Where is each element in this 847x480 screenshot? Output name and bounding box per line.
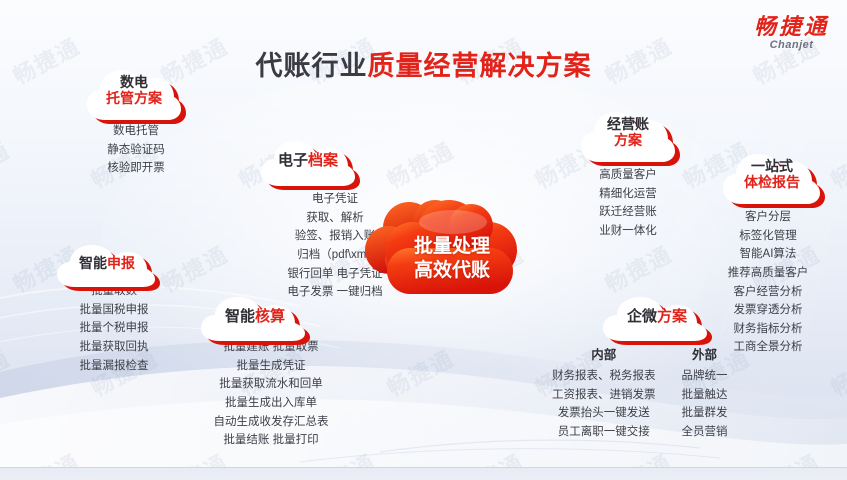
list-item: 跃迁经营账 bbox=[548, 203, 708, 222]
list-item: 客户分层 bbox=[692, 208, 844, 227]
cloud-badge-yizhanshi[interactable]: 一站式 体检报告 bbox=[718, 146, 826, 208]
cloud-badge-qiwei-fangan[interactable]: 企微 方案 bbox=[598, 292, 716, 346]
list-item: 批量国税申报 bbox=[44, 301, 184, 320]
chanjet-logo: 畅捷通 Chanjet bbox=[754, 16, 829, 51]
column-external: 外部 品牌统一 批量触达 批量群发 全员营销 bbox=[682, 344, 728, 442]
list-item: 智能AI算法 bbox=[692, 245, 844, 264]
column-items: 财务报表、税务报表 工资报表、进销发票 发票抬头一键发送 员工离职一键交接 bbox=[552, 367, 656, 442]
list-item: 批量生成出入库单 bbox=[166, 394, 376, 413]
page-title-prefix: 代账行业 bbox=[256, 51, 368, 81]
list-item: 精细化运营 bbox=[548, 185, 708, 204]
slide-canvas: 畅捷通畅捷通畅捷通畅捷通畅捷通畅捷通畅捷通畅捷通畅捷通畅捷通畅捷通畅捷通畅捷通畅… bbox=[0, 0, 847, 480]
list-item: 高质量客户 bbox=[548, 166, 708, 185]
list-item: 核验即开票 bbox=[56, 159, 216, 178]
list-item: 批量获取回执 bbox=[44, 338, 184, 357]
item-list-zhineng-shenbao: 批量取数 批量国税申报 批量个税申报 批量获取回执 批量漏报检查 bbox=[44, 282, 184, 375]
list-item: 品牌统一 bbox=[682, 367, 728, 386]
list-item: 批量生成凭证 bbox=[166, 357, 376, 376]
logo-en-text: Chanjet bbox=[754, 40, 829, 51]
list-item: 工资报表、进销发票 bbox=[552, 386, 656, 405]
column-header: 内部 bbox=[552, 344, 656, 363]
page-title-highlight: 质量经营解决方案 bbox=[368, 51, 592, 81]
cloud-badge-jingyingzhang[interactable]: 经营账 方案 bbox=[576, 104, 680, 166]
list-item: 员工离职一键交接 bbox=[552, 423, 656, 442]
item-list-jingyingzhang: 高质量客户 精细化运营 跃迁经营账 业财一体化 bbox=[548, 166, 708, 241]
column-items: 品牌统一 批量触达 批量群发 全员营销 bbox=[682, 367, 728, 442]
center-cloud-badge: 批量处理 高效代账 bbox=[363, 192, 535, 310]
list-item: 发票抬头一键发送 bbox=[552, 404, 656, 423]
page-title: 代账行业质量经营解决方案 bbox=[0, 44, 847, 83]
list-item: 业财一体化 bbox=[548, 222, 708, 241]
list-item: 全员营销 bbox=[682, 423, 728, 442]
list-item: 标签化管理 bbox=[692, 227, 844, 246]
cloud-badge-dianzi-dangan[interactable]: 电子 档案 bbox=[256, 135, 360, 191]
list-item: 批量获取流水和回单 bbox=[166, 375, 376, 394]
list-item: 推荐高质量客户 bbox=[692, 264, 844, 283]
logo-cn-text: 畅捷通 bbox=[754, 16, 829, 38]
list-item: 批量群发 bbox=[682, 404, 728, 423]
cloud-badge-zhineng-shenbao[interactable]: 智能 申报 bbox=[52, 240, 162, 292]
item-list-shudian-tuoguan: 数电托管 静态验证码 核验即开票 bbox=[56, 122, 216, 178]
list-item: 财务报表、税务报表 bbox=[552, 367, 656, 386]
bottom-strip bbox=[0, 467, 847, 480]
list-item: 批量个税申报 bbox=[44, 319, 184, 338]
list-item: 批量结账 批量打印 bbox=[166, 431, 376, 450]
list-item: 数电托管 bbox=[56, 122, 216, 141]
item-list-zhineng-hesuan: 批量建账 批量取票 批量生成凭证 批量获取流水和回单 批量生成出入库单 自动生成… bbox=[166, 338, 376, 450]
item-columns-qiwei-fangan: 内部 财务报表、税务报表 工资报表、进销发票 发票抬头一键发送 员工离职一键交接… bbox=[552, 344, 728, 442]
list-item: 静态验证码 bbox=[56, 141, 216, 160]
column-internal: 内部 财务报表、税务报表 工资报表、进销发票 发票抬头一键发送 员工离职一键交接 bbox=[552, 344, 656, 442]
column-header: 外部 bbox=[682, 344, 728, 363]
cloud-badge-zhineng-hesuan[interactable]: 智能 核算 bbox=[196, 292, 314, 346]
list-item: 自动生成收发存汇总表 bbox=[166, 413, 376, 432]
list-item: 批量漏报检查 bbox=[44, 357, 184, 376]
list-item: 批量触达 bbox=[682, 386, 728, 405]
